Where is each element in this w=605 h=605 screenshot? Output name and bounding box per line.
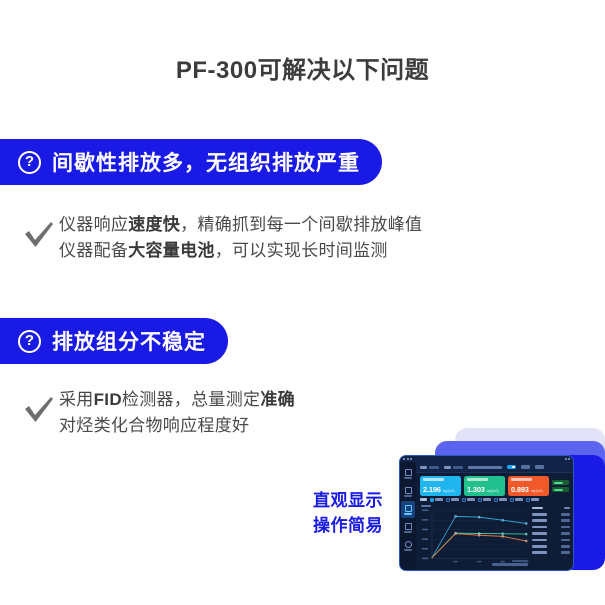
table-row [532, 531, 570, 536]
table-row [532, 518, 570, 523]
kpi-card-nmhc: 0.893 mg/(m3) [508, 476, 549, 496]
table-row [532, 550, 570, 555]
check-icon [24, 222, 54, 256]
kpi-unit: mg/(m3) [531, 489, 543, 494]
site-select[interactable] [444, 466, 463, 469]
bullet-text-post: ，精确抓到每一个间歇排放峰值 [180, 215, 422, 234]
kpi-card-row: 2.196 mg/(m3) 1.303 mg/(m3) 0.893 mg/( [416, 473, 573, 498]
page-title: PF-300可解决以下问题 [0, 50, 605, 85]
chart-line-icon [405, 505, 412, 512]
sidebar-item-label [404, 495, 412, 497]
bullet-text-pre: 仪器响应 [59, 215, 128, 234]
bullet-line: 采用FID检测器，总量测定准确 [59, 387, 295, 413]
bullet-lines-2: 采用FID检测器，总量测定准确 对烃类化合物响应程度好 [59, 385, 295, 439]
realtime-toggle[interactable] [507, 465, 516, 470]
sidebar-item-overview[interactable] [401, 465, 415, 482]
bullet-text-strong: 速度快 [128, 215, 180, 234]
filter-checkbox-dichloromethane[interactable] [494, 498, 507, 502]
bullet-block-1: 仪器响应速度快，精确抓到每一个间歇排放峰值 仪器配备大容量电池，可以实现长时间监… [24, 210, 422, 264]
device-toolbar [416, 462, 573, 473]
bullet-line: 对烃类化合物响应程度好 [59, 413, 295, 439]
question-pill-1: ? 间歇性排放多，无组织排放严重 [0, 139, 382, 185]
bullet-text-pre: 仪器配备 [59, 241, 128, 260]
question-pill-2: ? 排放组分不稳定 [0, 318, 228, 364]
kpi-label [423, 478, 444, 481]
kpi-value: 2.196 [423, 485, 441, 494]
trend-chart[interactable] [419, 504, 530, 568]
question-pill-2-label: 排放组分不稳定 [52, 326, 206, 356]
bullet-text-strong: FID [94, 390, 122, 409]
table-row [532, 512, 570, 517]
kpi-value: 0.893 [511, 485, 529, 494]
window-controls-icon[interactable] [403, 458, 412, 460]
filter-checkbox-ethanol[interactable] [526, 498, 539, 502]
kpi-value: 1.303 [467, 485, 485, 494]
table-row [532, 537, 570, 542]
bullet-line: 仪器配备大容量电池，可以实现长时间监测 [59, 238, 422, 264]
bullet-text-pre: 对烃类化合物响应程度好 [59, 416, 249, 435]
table-row [532, 544, 570, 549]
device-caption: 直观显示 操作简易 [313, 488, 383, 538]
kpi-card-methane: 2.196 mg/(m3) [420, 476, 461, 496]
kpi-status-badges [552, 476, 569, 496]
kpi-label [511, 478, 532, 481]
table-row [532, 525, 570, 530]
device-screenshot: 2.196 mg/(m3) 1.303 mg/(m3) 0.893 mg/( [399, 455, 574, 571]
status-badge [552, 487, 569, 492]
sidebar-item-label [404, 513, 412, 515]
grid-icon [405, 469, 412, 476]
kpi-unit: mg/(m3) [487, 489, 499, 494]
data-table [532, 504, 570, 568]
sidebar-item-label [404, 531, 412, 533]
kpi-label [467, 478, 488, 481]
bullet-block-2: 采用FID检测器，总量测定准确 对烃类化合物响应程度好 [24, 385, 295, 439]
sidebar-item-curve[interactable] [401, 501, 415, 518]
status-badge [552, 480, 569, 485]
filter-checkbox-total-hydrocarbon[interactable] [462, 498, 475, 502]
kpi-card-total-hydrocarbon: 1.303 mg/(m3) [464, 476, 505, 496]
filter-checkbox-methane[interactable] [430, 498, 443, 502]
table-header-row [532, 506, 570, 511]
device-caption-line1: 直观显示 [313, 488, 383, 513]
bullet-text-strong2: 准确 [260, 390, 295, 409]
kpi-unit: mg/(m3) [443, 489, 455, 494]
bullet-text-post: ，可以实现长时间监测 [215, 241, 388, 260]
filter-legend-label [420, 498, 427, 501]
bullet-text-post: 检测器，总量测定 [122, 390, 260, 409]
sidebar-item-label [404, 477, 412, 479]
filter-checkbox-nmhc[interactable] [446, 498, 459, 502]
bullet-text-strong: 大容量电池 [128, 241, 215, 260]
sidebar-item-settings[interactable] [401, 537, 415, 554]
table-icon [405, 487, 412, 494]
date-range-input[interactable] [468, 466, 502, 469]
filter-checkbox-benzene[interactable] [478, 498, 491, 502]
plant-select[interactable] [420, 466, 439, 469]
chart-annotation [512, 560, 528, 562]
query-button[interactable] [521, 465, 530, 469]
question-circle-icon: ? [18, 151, 41, 174]
filter-checkbox-trichloroethylene[interactable] [510, 498, 523, 502]
export-button[interactable] [535, 465, 544, 469]
gear-icon [405, 541, 412, 548]
bullet-lines-1: 仪器响应速度快，精确抓到每一个间歇排放峰值 仪器配备大容量电池，可以实现长时间监… [59, 210, 422, 264]
check-icon [24, 397, 54, 431]
question-pill-1-label: 间歇性排放多，无组织排放严重 [52, 147, 360, 177]
window-actions-icon[interactable] [565, 458, 571, 460]
device-sidebar [400, 462, 416, 570]
chart-canvas [419, 504, 530, 568]
question-circle-icon: ? [18, 330, 41, 353]
sidebar-item-label [404, 549, 412, 551]
device-caption-line2: 操作简易 [313, 513, 383, 538]
chart-footnote [492, 563, 528, 565]
sidebar-item-data[interactable] [401, 483, 415, 500]
bullet-text-pre: 采用 [59, 390, 94, 409]
bar-chart-icon [405, 523, 412, 530]
sidebar-item-stats[interactable] [401, 519, 415, 536]
bullet-line: 仪器响应速度快，精确抓到每一个间歇排放峰值 [59, 212, 422, 238]
